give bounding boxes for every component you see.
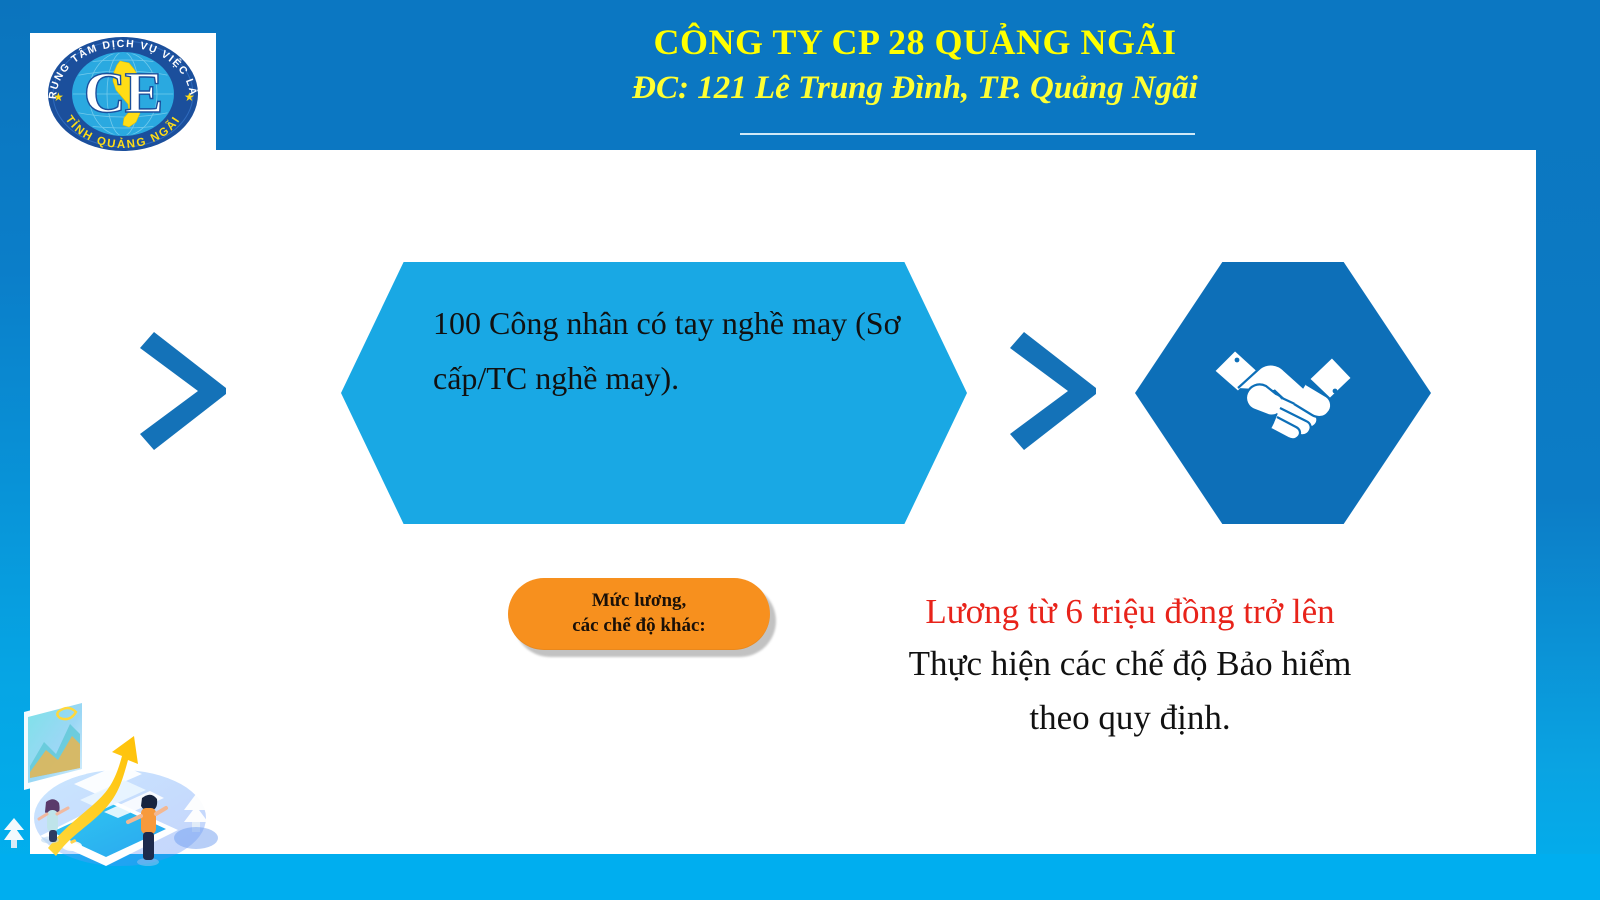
- job-requirement-hexagon: 100 Công nhân có tay nghề may (Sơ cấp/TC…: [341, 262, 967, 524]
- chevron-right-icon: [1010, 332, 1102, 450]
- frame-bottom-edge: [0, 854, 1600, 900]
- frame-top-right-fill: [1536, 0, 1600, 150]
- agreement-hexagon: [1135, 262, 1431, 524]
- isometric-analytics-illustration-icon: [0, 690, 230, 870]
- salary-badge-body[interactable]: Mức lương, các chế độ khác:: [508, 578, 770, 650]
- address-underline: [740, 133, 1195, 135]
- company-address: ĐC: 121 Lê Trung Đình, TP. Quảng Ngãi: [632, 69, 1198, 109]
- salary-badge[interactable]: Mức lương, các chế độ khác:: [508, 578, 770, 652]
- salary-highlight: Lương từ 6 triệu đồng trở lên: [810, 588, 1450, 635]
- header-text-block: CÔNG TY CP 28 QUẢNG NGÃI ĐC: 121 Lê Trun…: [300, 22, 1530, 142]
- company-logo: CE TRUNG TÂM DỊCH VỤ VIỆC LÀM TỈNH QUẢNG…: [30, 33, 216, 155]
- svg-text:CE: CE: [84, 60, 163, 125]
- job-requirement-text: 100 Công nhân có tay nghề may (Sơ cấp/TC…: [433, 296, 903, 406]
- salary-badge-line-1: Mức lương,: [592, 589, 687, 614]
- employment-service-center-seal-icon: CE TRUNG TÂM DỊCH VỤ VIỆC LÀM TỈNH QUẢNG…: [34, 35, 212, 153]
- slide-canvas: CE TRUNG TÂM DỊCH VỤ VIỆC LÀM TỈNH QUẢNG…: [0, 0, 1600, 900]
- chevron-right-icon: [140, 332, 232, 450]
- insurance-line-1: Thực hiện các chế độ Bảo hiểm: [810, 639, 1450, 689]
- company-name: CÔNG TY CP 28 QUẢNG NGÃI: [653, 22, 1176, 63]
- svg-text:★: ★: [184, 90, 195, 104]
- insurance-line-2: theo quy định.: [810, 693, 1450, 743]
- svg-text:★: ★: [53, 90, 64, 104]
- salary-badge-line-2: các chế độ khác:: [572, 614, 706, 639]
- salary-details: Lương từ 6 triệu đồng trở lên Thực hiện …: [810, 588, 1450, 743]
- handshake-icon: [1208, 338, 1358, 448]
